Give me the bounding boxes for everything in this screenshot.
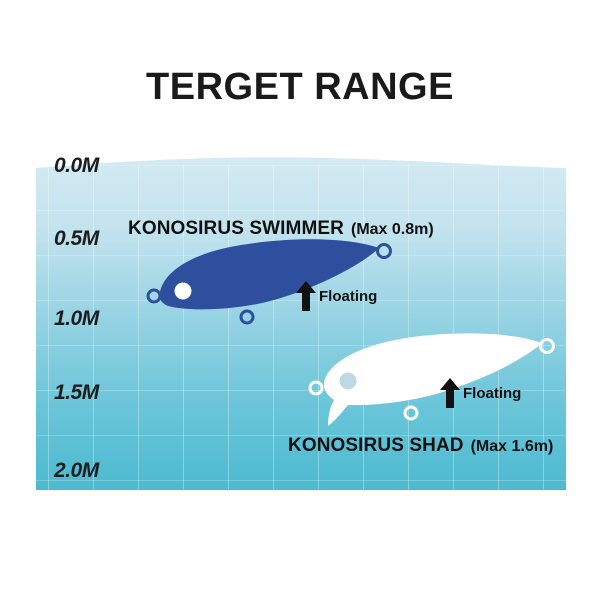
belly-eyelet-ring-icon [241,311,253,323]
depth-chart: 0.0M 0.5M 1.0M 1.5M 2.0M KONOSIRUS SWIMM… [36,110,566,490]
floating-text-konosirus-swimmer: Floating [319,288,377,305]
lure-eye [175,283,192,300]
page-title: TERGET RANGE [0,66,600,109]
target-range-diagram: TERGET RANGE 0.0M 0.5M [0,0,600,600]
lure-eye [340,373,357,390]
depth-label-0-5m: 0.5M [54,227,99,251]
depth-label-2-0m: 2.0M [54,459,99,483]
nose-eyelet-ring-icon [310,382,322,394]
lure-body-konosirus-swimmer [146,232,396,327]
lure-max-depth-konosirus-shad: (Max 1.6m) [471,438,554,455]
floating-text-konosirus-shad: Floating [463,385,521,402]
belly-eyelet-ring-icon [405,407,417,419]
depth-label-1-0m: 1.0M [54,307,99,331]
lure-label-konosirus-shad: KONOSIRUS SHAD(Max 1.6m) [288,435,553,457]
nose-eyelet-ring-icon [148,290,160,302]
lure-name-konosirus-shad: KONOSIRUS SHAD [288,435,464,456]
tail-eyelet-ring-icon [378,245,391,258]
tail-eyelet-ring-icon [541,340,554,353]
floating-marker-konosirus-shad: Floating [440,378,521,408]
depth-label-0-0m: 0.0M [54,154,99,178]
depth-label-1-5m: 1.5M [54,381,99,405]
floating-marker-konosirus-swimmer: Floating [296,281,377,311]
up-arrow-icon [296,281,316,311]
up-arrow-icon [440,378,460,408]
